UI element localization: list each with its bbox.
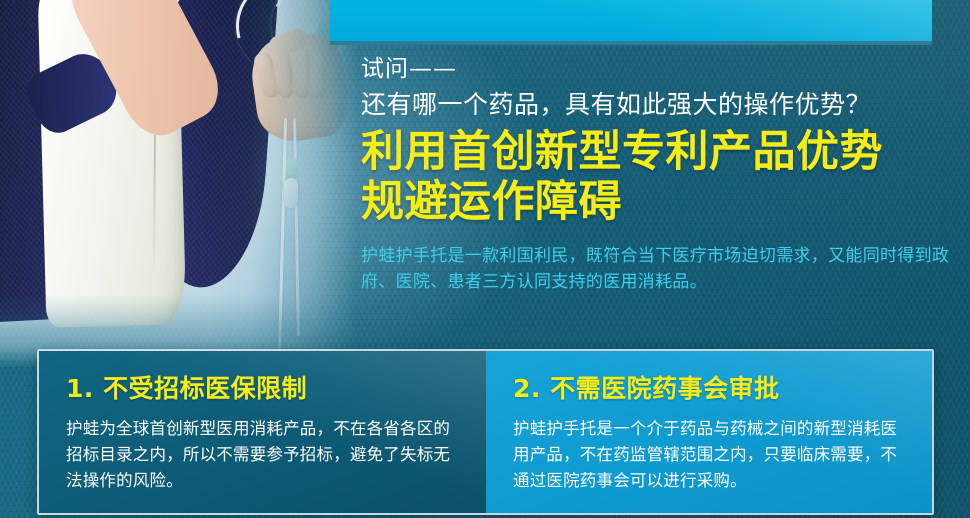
hero-text-block: 试问—— 还有哪一个药品，具有如此强大的操作优势？ 利用首创新型专利产品优势 规… bbox=[361, 52, 961, 295]
hero-photo bbox=[0, 0, 358, 368]
tube-clamp-icon bbox=[286, 158, 298, 180]
feature-panel-2[interactable]: 2. 不需医院药事会审批 护蛙护手托是一个介于药品与药械之间的新型消耗医用产品，… bbox=[486, 351, 932, 513]
hero-headline: 利用首创新型专利产品优势 规避运作障碍 bbox=[361, 127, 961, 227]
panel-2-content: 2. 不需医院药事会审批 护蛙护手托是一个介于药品与药械之间的新型消耗医用产品，… bbox=[486, 351, 932, 494]
feature-panels: 1. 不受招标医保限制 护蛙为全球首创新型医用消耗产品，不在各省各区的招标目录之… bbox=[37, 349, 934, 515]
hero-headline-line-1: 利用首创新型专利产品优势 bbox=[361, 127, 883, 177]
top-banner-underline bbox=[330, 41, 932, 45]
panel-2-title: 2. 不需医院药事会审批 bbox=[513, 373, 908, 405]
hero-note-paragraph: 护蛙护手托是一款利国利民，既符合当下医疗市场迫切需求，又能同时得到政府、医院、患… bbox=[361, 243, 961, 295]
panel-1-content: 1. 不受招标医保限制 护蛙为全球首创新型医用消耗产品，不在各省各区的招标目录之… bbox=[39, 351, 486, 494]
panel-2-body: 护蛙护手托是一个介于药品与药械之间的新型消耗医用产品，不在药监管辖范围之内，只要… bbox=[513, 416, 908, 494]
hero-subtitle: 还有哪一个药品，具有如此强大的操作优势？ bbox=[361, 86, 961, 124]
top-cyan-banner-bar bbox=[330, 0, 932, 41]
tube-drip-chamber-icon bbox=[284, 178, 298, 208]
feature-panel-1[interactable]: 1. 不受招标医保限制 护蛙为全球首创新型医用消耗产品，不在各省各区的招标目录之… bbox=[39, 351, 486, 513]
hero-headline-line-2: 规避运作障碍 bbox=[361, 177, 961, 227]
hero-eyebrow: 试问—— bbox=[361, 52, 961, 86]
promo-poster: 试问—— 还有哪一个药品，具有如此强大的操作优势？ 利用首创新型专利产品优势 规… bbox=[0, 0, 970, 518]
panel-1-title: 1. 不受招标医保限制 bbox=[66, 373, 462, 405]
panel-1-body: 护蛙为全球首创新型医用消耗产品，不在各省各区的招标目录之内，所以不需要参予招标，… bbox=[66, 416, 462, 494]
